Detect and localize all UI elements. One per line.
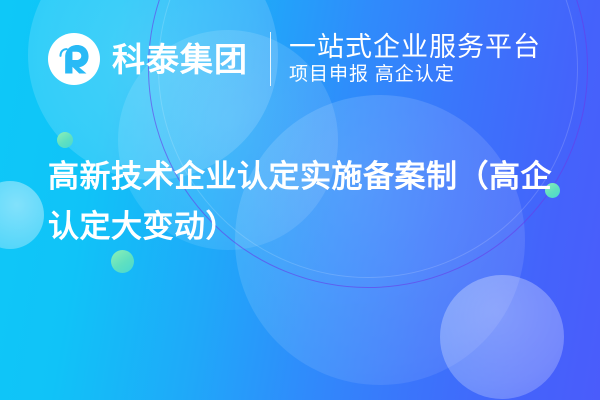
pale-circle-left xyxy=(0,181,44,249)
promo-banner: 科泰集团 一站式企业服务平台 项目申报 高企认定 高新技术企业认定实施备案制（高… xyxy=(0,0,600,400)
brand-name: 科泰集团 xyxy=(112,43,248,76)
green-accent-dot xyxy=(57,132,73,148)
kotai-circular-logo-icon xyxy=(48,33,100,85)
tagline-primary: 一站式企业服务平台 xyxy=(289,33,541,62)
brand-lockup: 科泰集团 xyxy=(48,33,248,85)
page-title: 高新技术企业认定实施备案制（高企认定大变动） xyxy=(48,152,568,252)
green-accent-dot xyxy=(111,250,134,273)
tagline-secondary: 项目申报 高企认定 xyxy=(289,64,541,86)
tagline-group: 一站式企业服务平台 项目申报 高企认定 xyxy=(289,33,541,86)
header-divider xyxy=(270,32,271,86)
banner-header: 科泰集团 一站式企业服务平台 项目申报 高企认定 xyxy=(0,20,600,98)
large-pale-circle-bottom-right xyxy=(440,275,564,399)
headline-block: 高新技术企业认定实施备案制（高企认定大变动） xyxy=(48,152,568,252)
